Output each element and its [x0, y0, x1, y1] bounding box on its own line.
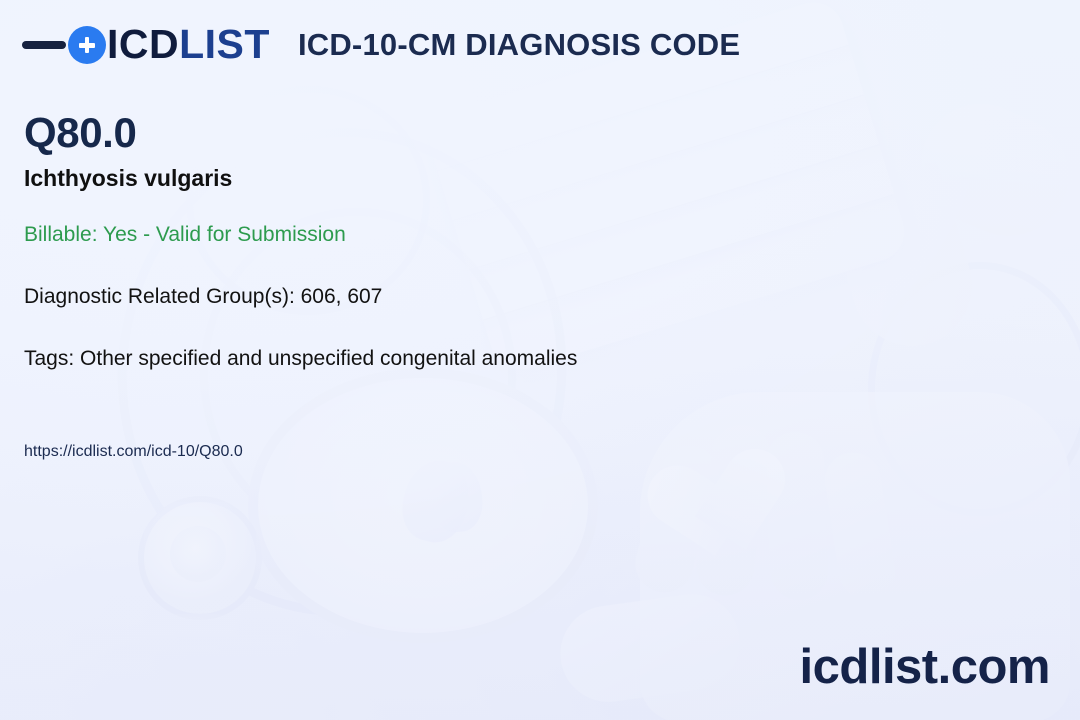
- poster-content: ICD LIST ICD-10-CM DIAGNOSIS CODE Q80.0 …: [0, 0, 1080, 720]
- footer-brand: icdlist.com: [800, 643, 1050, 692]
- diagnosis-code: Q80.0: [24, 112, 136, 154]
- dash-icon: [22, 41, 66, 49]
- page-title: ICD-10-CM DIAGNOSIS CODE: [298, 29, 740, 60]
- diagnosis-description: Ichthyosis vulgaris: [24, 167, 232, 190]
- source-url[interactable]: https://icdlist.com/icd-10/Q80.0: [24, 444, 243, 460]
- icdlist-logo[interactable]: ICD LIST: [22, 24, 270, 65]
- poster-canvas: ICD LIST ICD-10-CM DIAGNOSIS CODE Q80.0 …: [0, 0, 1080, 720]
- header: ICD LIST ICD-10-CM DIAGNOSIS CODE: [22, 24, 740, 65]
- logo-word-list: LIST: [179, 24, 270, 65]
- billable-status: Billable: Yes - Valid for Submission: [24, 224, 346, 245]
- tags-line: Tags: Other specified and unspecified co…: [24, 348, 577, 369]
- logo-word-icd: ICD: [107, 24, 179, 65]
- plus-circle-icon: [68, 26, 106, 64]
- diagnostic-related-groups: Diagnostic Related Group(s): 606, 607: [24, 286, 382, 307]
